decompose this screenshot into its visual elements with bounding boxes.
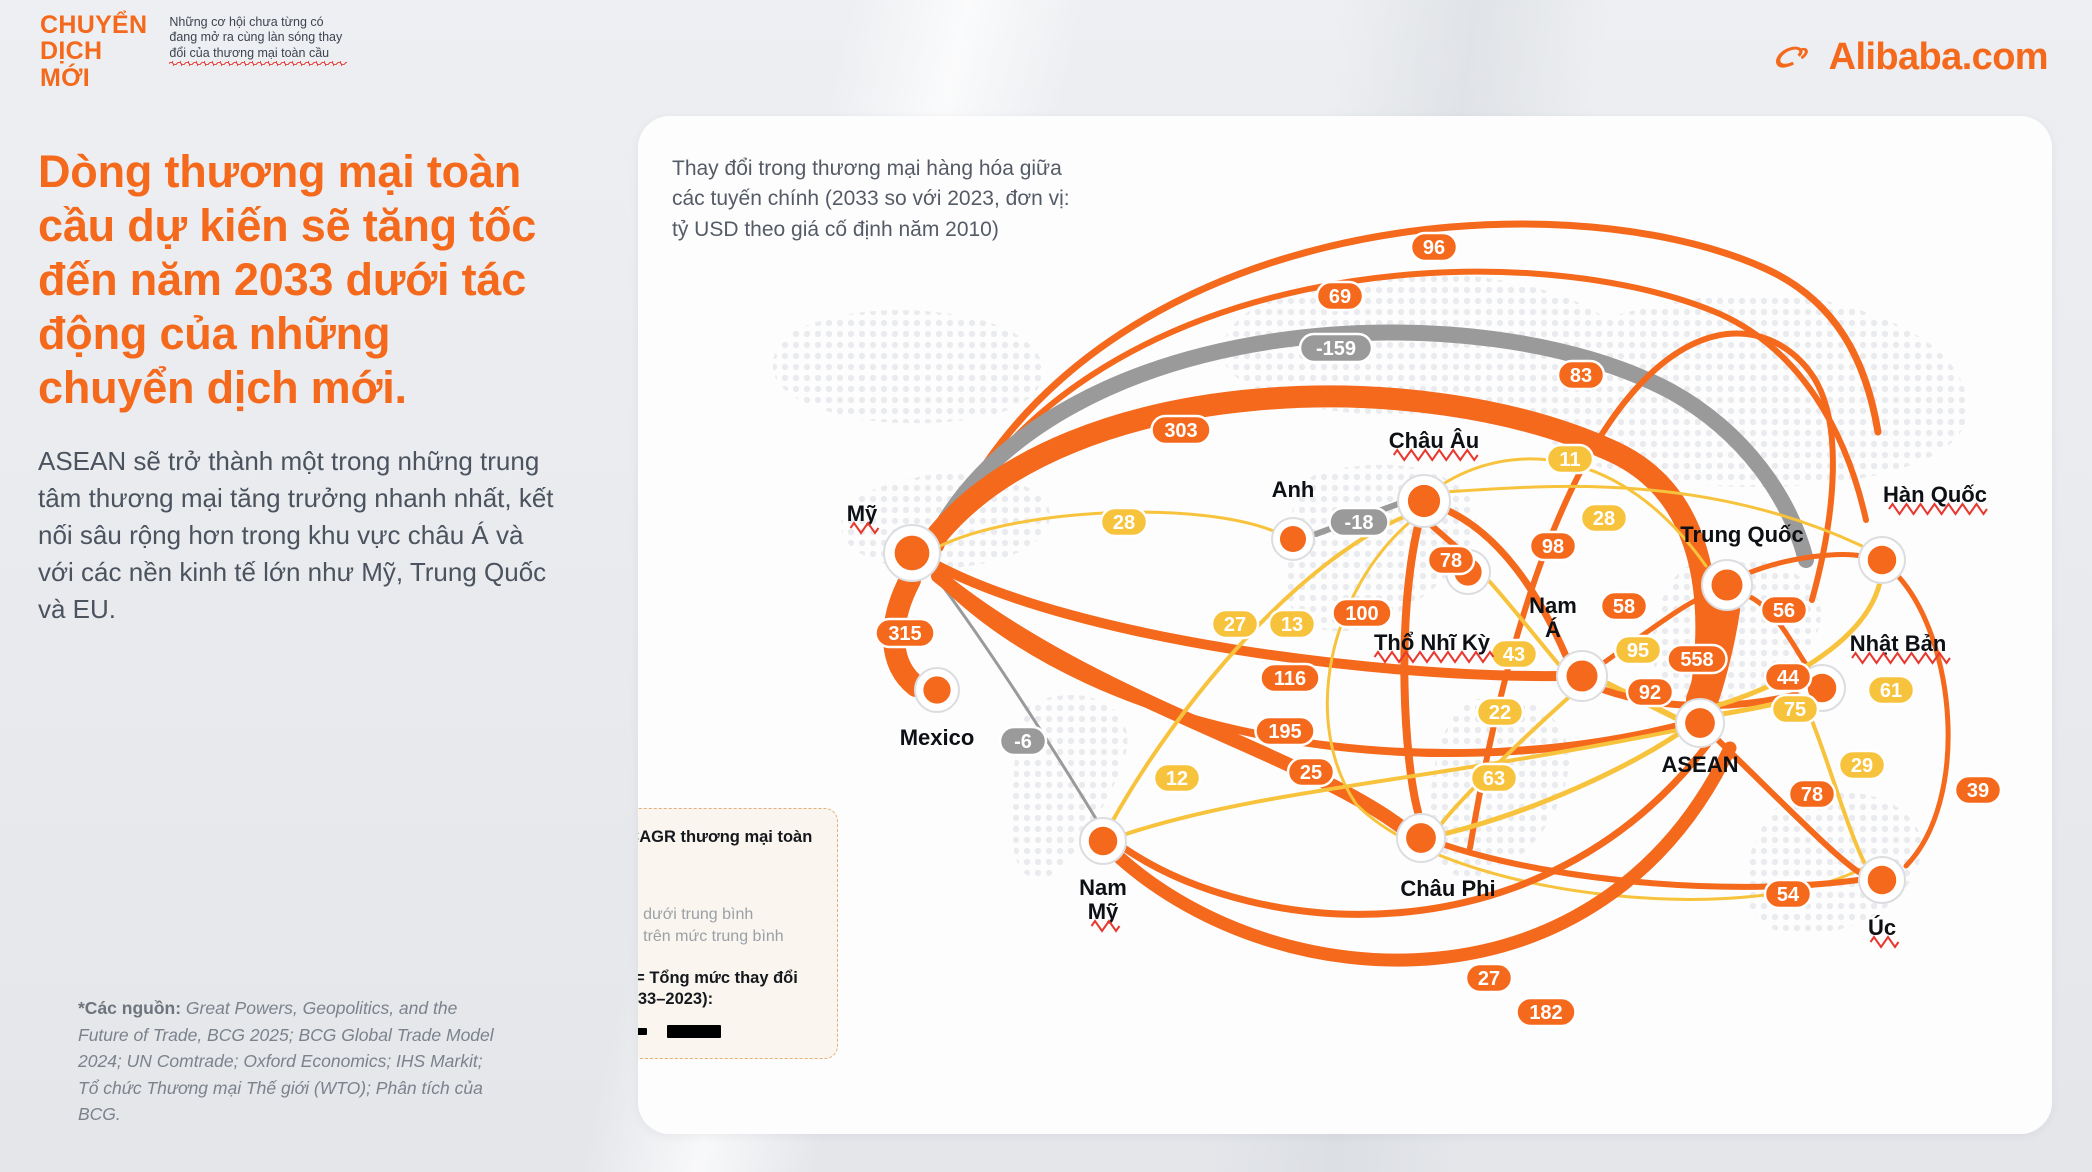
- legend-item: Tăng trưởng trên mức trung bình: [638, 928, 817, 946]
- alibaba-swirl-icon: [1773, 41, 1819, 75]
- node-asean[interactable]: [1676, 699, 1724, 747]
- node-label-trungqc: Trung Quốc: [1680, 522, 1803, 547]
- value-pill: 27: [1466, 964, 1512, 992]
- trade-flow-diagram: 9669-15983303315-628-1811289878100271358…: [638, 116, 2052, 1134]
- brand-header: CHUYỂN DỊCH MỚI Những cơ hội chưa từng c…: [40, 12, 347, 91]
- value-pill-text: 28: [1113, 512, 1135, 534]
- value-pill: 116: [1261, 664, 1320, 692]
- value-pill: 100: [1333, 599, 1392, 627]
- value-pill-text: 78: [1440, 550, 1462, 572]
- node-nammy[interactable]: [1080, 818, 1126, 864]
- value-pill: 43: [1491, 640, 1537, 668]
- value-pill-text: -159: [1316, 338, 1356, 360]
- value-pill-text: 39: [1967, 780, 1989, 802]
- node-label-my: Mỹ: [847, 501, 878, 526]
- value-pill-text: 54: [1777, 884, 1800, 906]
- alibaba-logo[interactable]: Alibaba.com: [1773, 36, 2048, 79]
- node-label-chauphi: Châu Phi: [1400, 876, 1495, 901]
- node-chauphi[interactable]: [1397, 814, 1445, 862]
- value-pill: 195: [1256, 717, 1315, 745]
- value-pill-text: 83: [1570, 365, 1592, 387]
- value-pill-text: 27: [1224, 614, 1246, 636]
- value-pill-text: 558: [1680, 649, 1713, 671]
- value-pill-text: 195: [1268, 721, 1301, 743]
- value-pill-text: 98: [1542, 536, 1564, 558]
- value-pill-text: 100: [1345, 603, 1378, 625]
- node-label-uc: Úc: [1868, 915, 1896, 940]
- value-pill: 96: [1411, 233, 1457, 261]
- value-pill-text: 315: [888, 623, 921, 645]
- value-pill-text: 96: [1423, 237, 1445, 259]
- value-pill: 39: [1955, 776, 2001, 804]
- value-pill: 11: [1547, 445, 1593, 473]
- legend-color-items: Thu Hẹp Tăng trưởng dưới trung bình Tăng…: [638, 884, 817, 946]
- value-pill: 98: [1530, 532, 1576, 560]
- value-pill-text: 29: [1851, 755, 1873, 777]
- node-label-chauau: Châu Âu: [1389, 428, 1479, 453]
- value-pill: 58: [1601, 592, 1647, 620]
- value-pill-text: -18: [1345, 512, 1374, 534]
- kicker-line-1: CHUYỂN: [40, 12, 147, 38]
- value-pill: 44: [1765, 663, 1811, 691]
- value-pill-text: 13: [1281, 614, 1303, 636]
- width-sample-medium: [638, 1028, 647, 1035]
- value-pill: 83: [1558, 361, 1604, 389]
- value-pill: 29: [1839, 751, 1885, 779]
- legend-label-above-avg: Tăng trưởng trên mức trung bình: [638, 928, 784, 946]
- value-pill-text: 43: [1503, 644, 1525, 666]
- legend-item: Thu Hẹp: [638, 884, 817, 902]
- value-pill: 12: [1154, 764, 1200, 792]
- value-pill-text: 27: [1478, 968, 1500, 990]
- node-hanquoc[interactable]: [1859, 537, 1905, 583]
- value-pill: 558: [1668, 645, 1727, 673]
- value-pill: 182: [1517, 998, 1576, 1026]
- legend-label-below-avg: Tăng trưởng dưới trung bình: [638, 906, 753, 924]
- value-pill: 95: [1615, 636, 1661, 664]
- value-pill: 25: [1288, 758, 1334, 786]
- value-pill-text: 28: [1593, 508, 1615, 530]
- value-pill: 78: [1428, 546, 1474, 574]
- value-pill-text: 95: [1627, 640, 1649, 662]
- alibaba-wordmark: Alibaba.com: [1829, 36, 2048, 79]
- value-pill: 27: [1212, 610, 1258, 638]
- kicker-line-2: DỊCH: [40, 38, 147, 64]
- value-pill-text: 92: [1639, 682, 1661, 704]
- legend-item: Tăng trưởng dưới trung bình: [638, 906, 817, 924]
- value-pill-text: 116: [1274, 668, 1306, 690]
- value-pill: -159: [1300, 334, 1372, 362]
- value-pill: 315: [876, 619, 935, 647]
- page-deck: ASEAN sẽ trở thành một trong những trung…: [38, 443, 558, 628]
- chart-subtitle: Thay đổi trong thương mại hàng hóa giữa …: [672, 154, 1072, 245]
- node-namá[interactable]: [1557, 651, 1607, 701]
- node-label-asean: ASEAN: [1661, 752, 1738, 777]
- legend-color-title: Màu đường = CAGR thương mại toàn cầu 202…: [638, 827, 817, 870]
- campaign-kicker: CHUYỂN DỊCH MỚI: [40, 12, 147, 91]
- node-label-anh: Anh: [1272, 477, 1315, 502]
- node-uc[interactable]: [1859, 857, 1905, 903]
- left-column: Dòng thương mại toàn cầu dự kiến sẽ tăng…: [38, 145, 558, 628]
- value-pill: 69: [1317, 282, 1363, 310]
- value-pill: 28: [1581, 504, 1627, 532]
- value-pill: 54: [1765, 880, 1811, 908]
- value-pill-text: 12: [1166, 768, 1188, 790]
- value-pill: 56: [1761, 596, 1807, 624]
- value-pill: 63: [1471, 764, 1517, 792]
- value-pill-text: 78: [1801, 784, 1823, 806]
- node-chauau[interactable]: [1398, 475, 1450, 527]
- value-pill-text: 58: [1613, 596, 1635, 618]
- value-pill: 78: [1789, 780, 1835, 808]
- value-pill: 13: [1269, 610, 1315, 638]
- value-pill-text: 69: [1329, 286, 1351, 308]
- node-anh[interactable]: [1272, 518, 1314, 560]
- sources-label: *Các nguồn:: [78, 998, 181, 1018]
- value-pill-text: 63: [1483, 768, 1505, 790]
- page-title: Dòng thương mại toàn cầu dự kiến sẽ tăng…: [38, 145, 558, 415]
- value-pill-text: 61: [1880, 680, 1902, 702]
- value-pill-text: 182: [1529, 1002, 1562, 1024]
- legend-width-title: Độ dày đường = Tổng mức thay đổi thương …: [638, 968, 817, 1011]
- node-my[interactable]: [884, 525, 940, 581]
- node-label-mexico: Mexico: [900, 725, 975, 750]
- value-pill-text: 25: [1300, 762, 1322, 784]
- value-pill-text: 303: [1164, 420, 1197, 442]
- value-pill: 22: [1477, 698, 1523, 726]
- value-pill-text: 22: [1489, 702, 1511, 724]
- value-pill: -6: [1000, 727, 1046, 755]
- node-trungqc[interactable]: [1702, 560, 1752, 610]
- value-pill-text: -6: [1014, 731, 1032, 753]
- kicker-subtitle: Những cơ hội chưa từng có đang mở ra cùn…: [169, 15, 347, 61]
- value-pill: 61: [1868, 676, 1914, 704]
- value-pill: 75: [1772, 695, 1818, 723]
- value-pill-text: 75: [1784, 699, 1806, 721]
- value-pill: -18: [1330, 508, 1389, 536]
- value-pill-text: 56: [1773, 600, 1795, 622]
- value-pill-text: 44: [1777, 667, 1800, 689]
- legend-width-samples: [638, 1025, 817, 1038]
- node-mexico[interactable]: [915, 668, 959, 712]
- value-pill-text: 11: [1559, 449, 1580, 471]
- value-pill: 28: [1101, 508, 1147, 536]
- chart-legend: Màu đường = CAGR thương mại toàn cầu 202…: [638, 808, 838, 1059]
- kicker-line-3: MỚI: [40, 65, 147, 91]
- width-sample-thick: [667, 1025, 721, 1038]
- chart-panel: 9669-15983303315-628-1811289878100271358…: [638, 116, 2052, 1134]
- value-pill: 92: [1627, 678, 1673, 706]
- value-pill: 303: [1152, 416, 1211, 444]
- sources-note: *Các nguồn: Great Powers, Geopolitics, a…: [78, 995, 498, 1128]
